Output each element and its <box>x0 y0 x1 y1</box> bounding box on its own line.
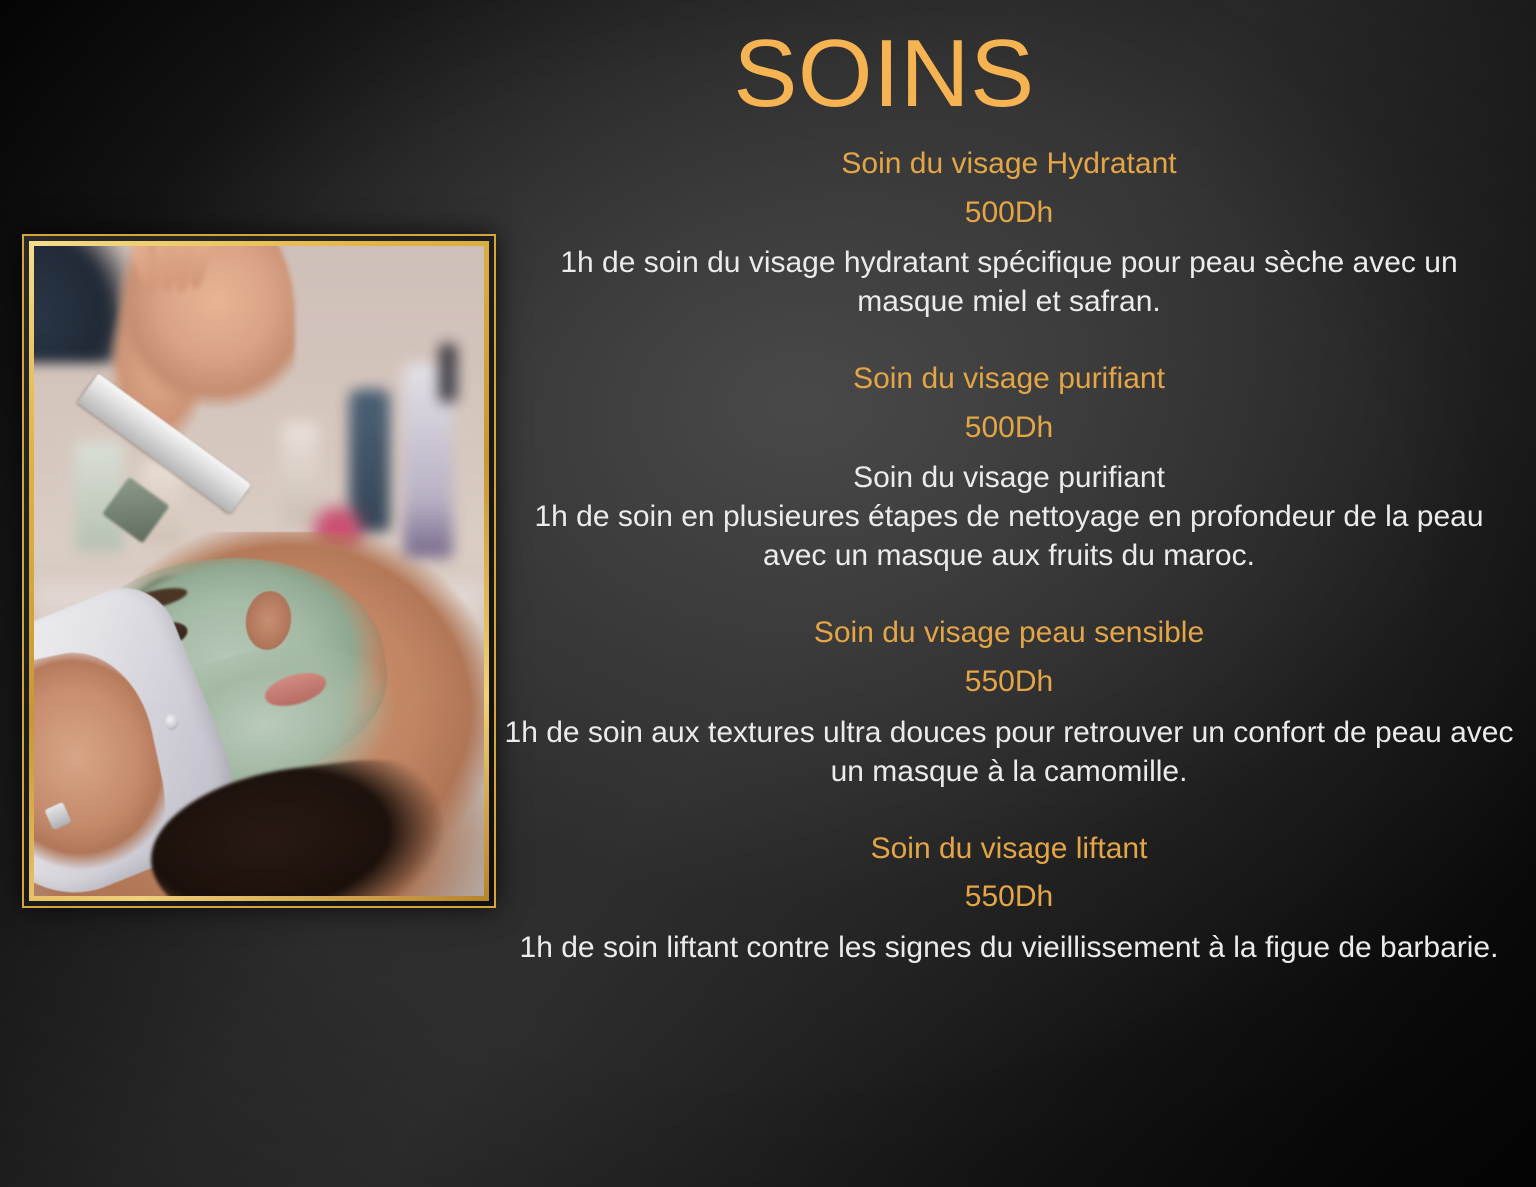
facial-treatment-photo <box>34 246 484 896</box>
slide-canvas: SOINS <box>0 0 1536 1187</box>
service-price: 500Dh <box>498 195 1520 232</box>
service-name: Soin du visage peau sensible <box>498 615 1520 652</box>
service-name: Soin du visage purifiant <box>498 361 1520 398</box>
service-item: Soin du visage purifiant 500Dh Soin du v… <box>498 361 1520 575</box>
service-description: 1h de soin liftant contre les signes du … <box>498 928 1520 967</box>
service-name: Soin du visage liftant <box>498 831 1520 868</box>
service-item: Soin du visage Hydratant 500Dh 1h de soi… <box>498 146 1520 321</box>
service-price: 500Dh <box>498 410 1520 447</box>
service-description: 1h de soin aux textures ultra douces pou… <box>498 713 1520 791</box>
service-item: Soin du visage liftant 550Dh 1h de soin … <box>498 831 1520 967</box>
services-list: Soin du visage Hydratant 500Dh 1h de soi… <box>498 146 1520 967</box>
service-description: 1h de soin du visage hydratant spécifiqu… <box>498 243 1520 321</box>
photo-frame-inner-border <box>29 241 489 901</box>
service-price: 550Dh <box>498 664 1520 701</box>
photo-frame <box>22 234 496 908</box>
photo-shelf-bottle-cap <box>439 344 457 403</box>
service-description: Soin du visage purifiant1h de soin en pl… <box>498 458 1520 575</box>
page-title: SOINS <box>0 22 1536 126</box>
photo-earring <box>165 714 179 730</box>
service-item: Soin du visage peau sensible 550Dh 1h de… <box>498 615 1520 790</box>
service-price: 550Dh <box>498 879 1520 916</box>
service-name: Soin du visage Hydratant <box>498 146 1520 183</box>
